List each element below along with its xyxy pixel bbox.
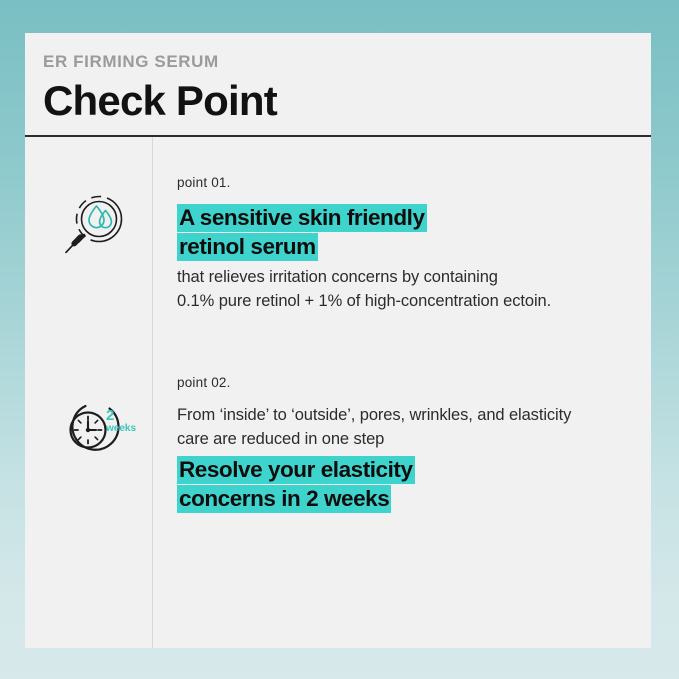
point-label-01: point 01.: [177, 175, 637, 191]
headline-line-2: concerns in 2 weeks: [177, 485, 391, 513]
body-line-2: care are reduced in one step: [177, 430, 384, 448]
clock-two-weeks-icon: 2 weeks: [55, 395, 139, 465]
icon-column: 2 weeks: [25, 137, 152, 648]
headline-line-1: A sensitive skin friendly: [177, 204, 427, 232]
headline-line-1: Resolve your elasticity: [177, 456, 415, 484]
point-headline-01: A sensitive skin friendly retinol serum: [177, 203, 637, 262]
point-block-01: point 01. A sensitive skin friendly reti…: [153, 175, 651, 313]
product-eyebrow: ER FIRMING SERUM: [43, 51, 651, 74]
check-point-card: ER FIRMING SERUM Check Point: [25, 33, 651, 648]
badge-number: 2: [106, 407, 114, 424]
point-body-02: From ‘inside’ to ‘outside’, pores, wrink…: [177, 403, 637, 451]
headline-line-2: retinol serum: [177, 233, 318, 261]
body-line-1: that relieves irritation concerns by con…: [177, 268, 498, 286]
card-header: ER FIRMING SERUM Check Point: [25, 33, 651, 137]
point-block-02: point 02. From ‘inside’ to ‘outside’, po…: [153, 375, 651, 513]
content-column: point 01. A sensitive skin friendly reti…: [153, 137, 651, 648]
body-line-1: From ‘inside’ to ‘outside’, pores, wrink…: [177, 406, 571, 424]
point-headline-02: Resolve your elasticity concerns in 2 we…: [177, 455, 637, 514]
magnifier-droplets-icon: [55, 192, 139, 262]
page-title: Check Point: [43, 76, 651, 126]
point-body-01: that relieves irritation concerns by con…: [177, 265, 637, 313]
badge-unit: weeks: [105, 423, 136, 434]
card-body: 2 weeks point 01. A sensitive skin frien…: [25, 137, 651, 648]
point-label-02: point 02.: [177, 375, 637, 391]
body-line-2: 0.1% pure retinol + 1% of high-concentra…: [177, 292, 551, 310]
